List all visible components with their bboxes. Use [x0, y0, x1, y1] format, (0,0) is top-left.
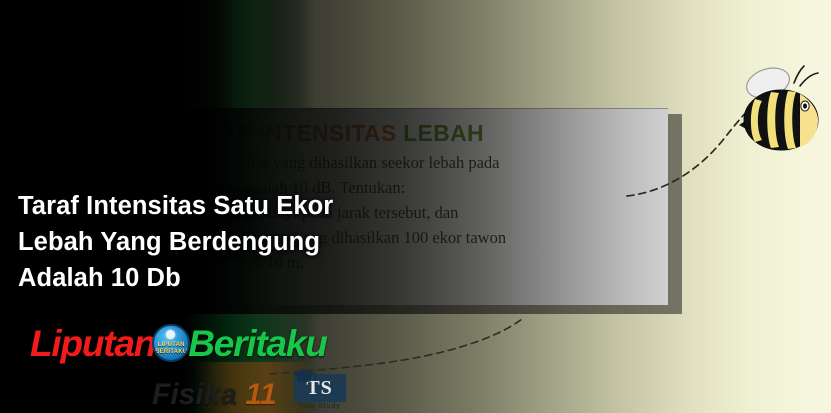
- subject-label: Fisika 11: [152, 380, 277, 410]
- brand-name-beritaku: Beritaku: [188, 325, 326, 362]
- brand-name-liputan: Liputan: [30, 325, 155, 362]
- brand-logo[interactable]: Liputan LIPUTAN BERITAKU Beritaku: [30, 324, 327, 362]
- bee-icon: [726, 56, 826, 160]
- subject-name: Fisika: [152, 378, 237, 411]
- tuto-study-subtitle: Tuto Study: [299, 403, 341, 410]
- graduation-cap-icon: [291, 368, 317, 384]
- footer-branding: Fisika 11 TS Tuto Study: [152, 368, 353, 410]
- thumbnail-image: TARAF INTENSITAS LEBAH Taraf intensitas …: [0, 0, 831, 413]
- liputan-beritaku-logo-icon: LIPUTAN BERITAKU: [152, 324, 190, 362]
- subject-grade: 11: [245, 378, 276, 411]
- badge-globe-icon: [166, 330, 175, 339]
- page-title-line-2: Lebah Yang Berdengung: [18, 224, 438, 260]
- tuto-study-logo: TS Tuto Study: [287, 368, 353, 410]
- badge-text-line-2: BERITAKU: [155, 349, 187, 356]
- page-title-line-1: Taraf Intensitas Satu Ekor: [18, 188, 438, 224]
- badge-text-line-1: LIPUTAN: [158, 342, 185, 349]
- page-title: Taraf Intensitas Satu Ekor Lebah Yang Be…: [18, 188, 438, 296]
- page-title-line-3: Adalah 10 Db: [18, 260, 438, 296]
